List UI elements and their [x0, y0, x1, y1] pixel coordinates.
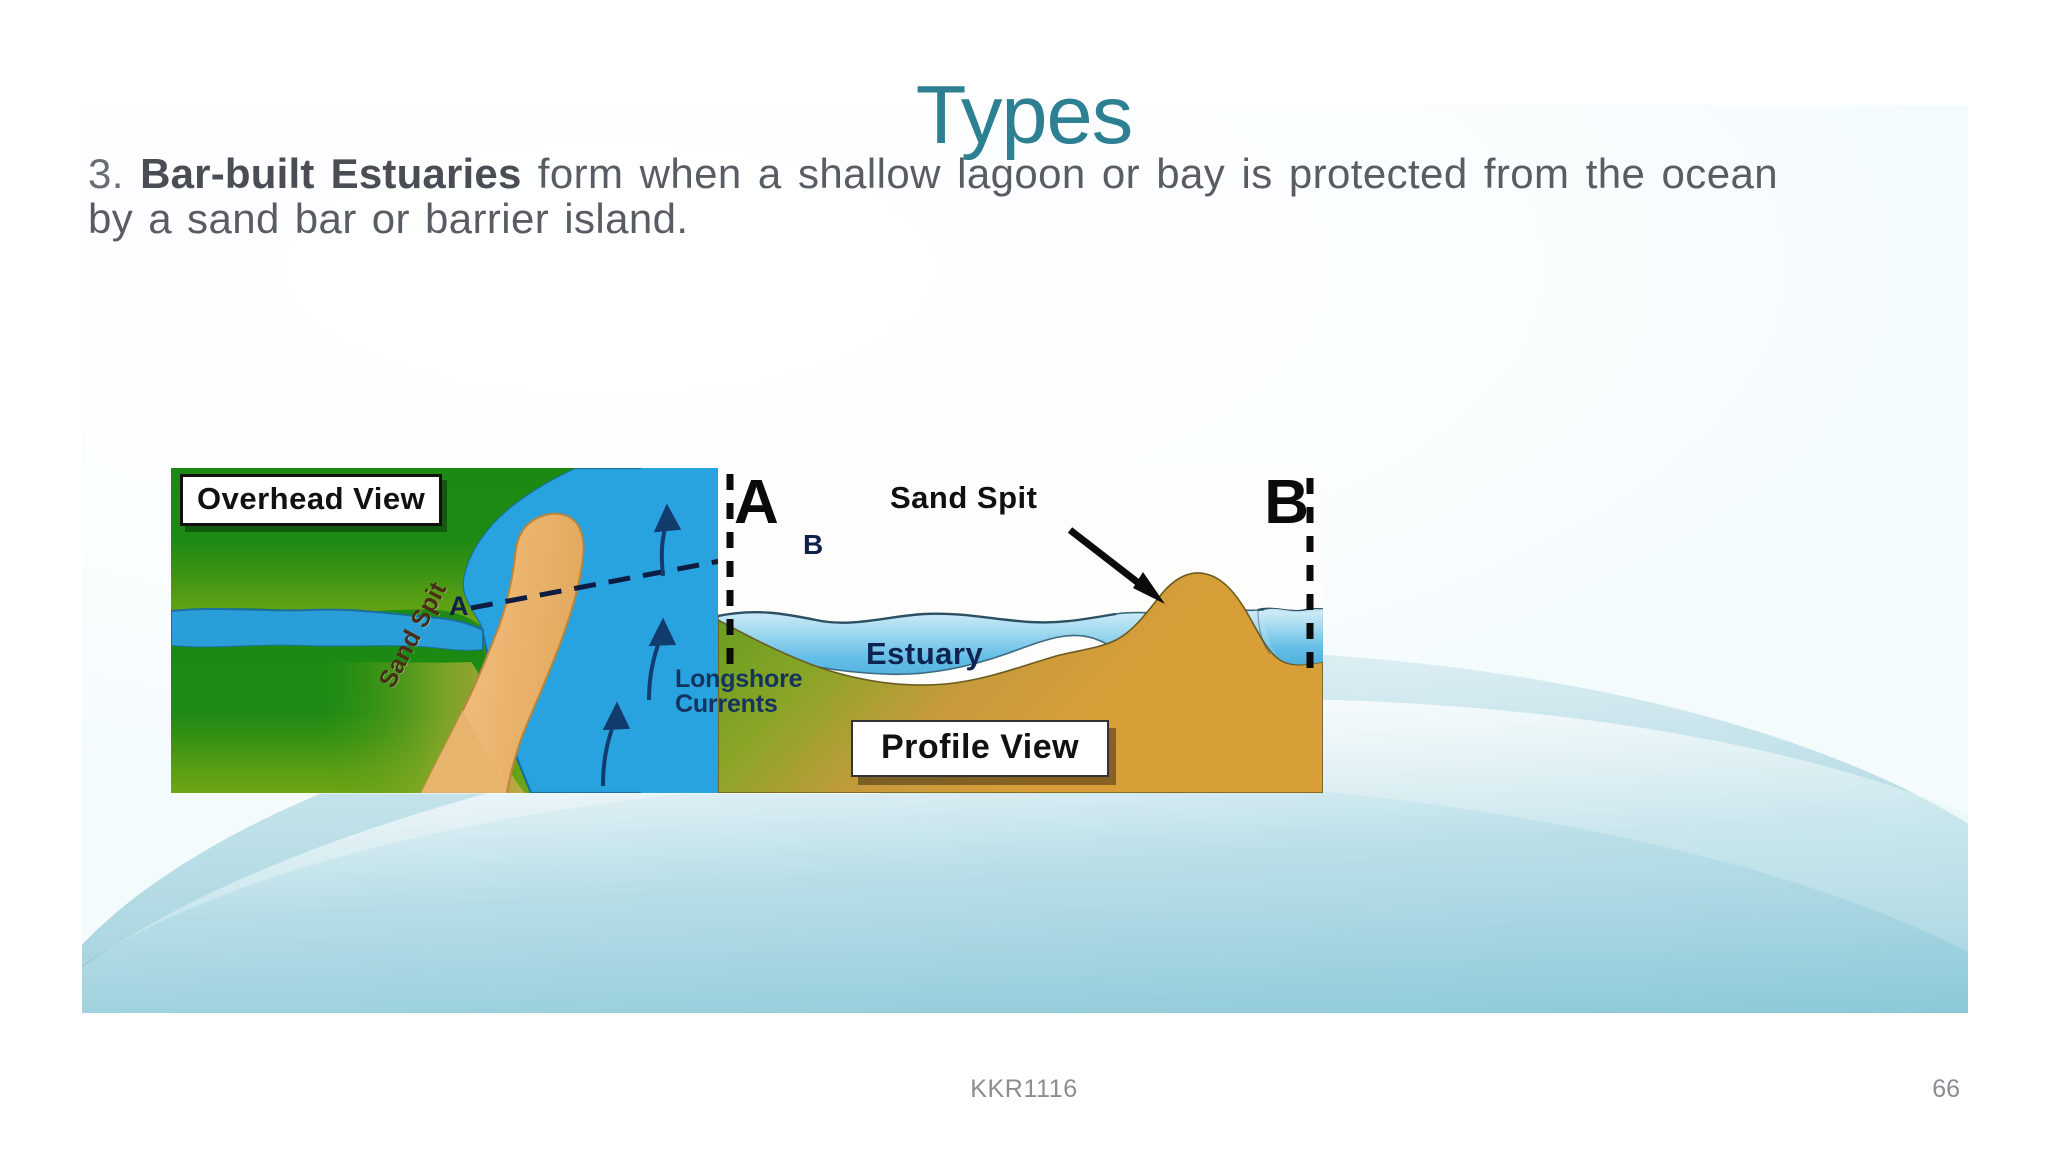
list-number: 3.	[88, 150, 124, 197]
figure-profile-view: A B Sand Spit Estuary Profile View	[718, 468, 1323, 793]
longshore-line-2: Currents	[675, 692, 802, 717]
overhead-view-caption: Overhead View	[197, 481, 425, 516]
overhead-longshore-currents-label: Longshore Currents	[675, 667, 802, 717]
profile-view-caption-box: Profile View	[851, 720, 1109, 777]
body-paragraph: 3. Bar-built Estuaries form when a shall…	[88, 152, 1778, 241]
profile-estuary-label: Estuary	[866, 636, 983, 672]
overhead-point-a-label: A	[449, 591, 469, 622]
profile-point-b-label: B	[1264, 472, 1309, 534]
profile-point-a-label: A	[734, 472, 779, 534]
overhead-view-caption-box: Overhead View	[180, 474, 442, 526]
overhead-point-b-label: B	[803, 529, 823, 561]
page-title: Types	[0, 73, 2048, 156]
longshore-line-1: Longshore	[675, 667, 802, 692]
footer-page-number: 66	[1932, 1075, 1960, 1104]
profile-sand-spit-label: Sand Spit	[890, 480, 1037, 516]
slide: Types 3. Bar-built Estuaries form when a…	[0, 0, 2048, 1152]
figure-row: Overhead View A B Sand Spit Longshore Cu…	[0, 468, 2048, 798]
profile-view-caption: Profile View	[881, 728, 1079, 766]
footer-course-code: KKR1116	[0, 1075, 2048, 1104]
body-term: Bar-built Estuaries	[140, 150, 521, 197]
